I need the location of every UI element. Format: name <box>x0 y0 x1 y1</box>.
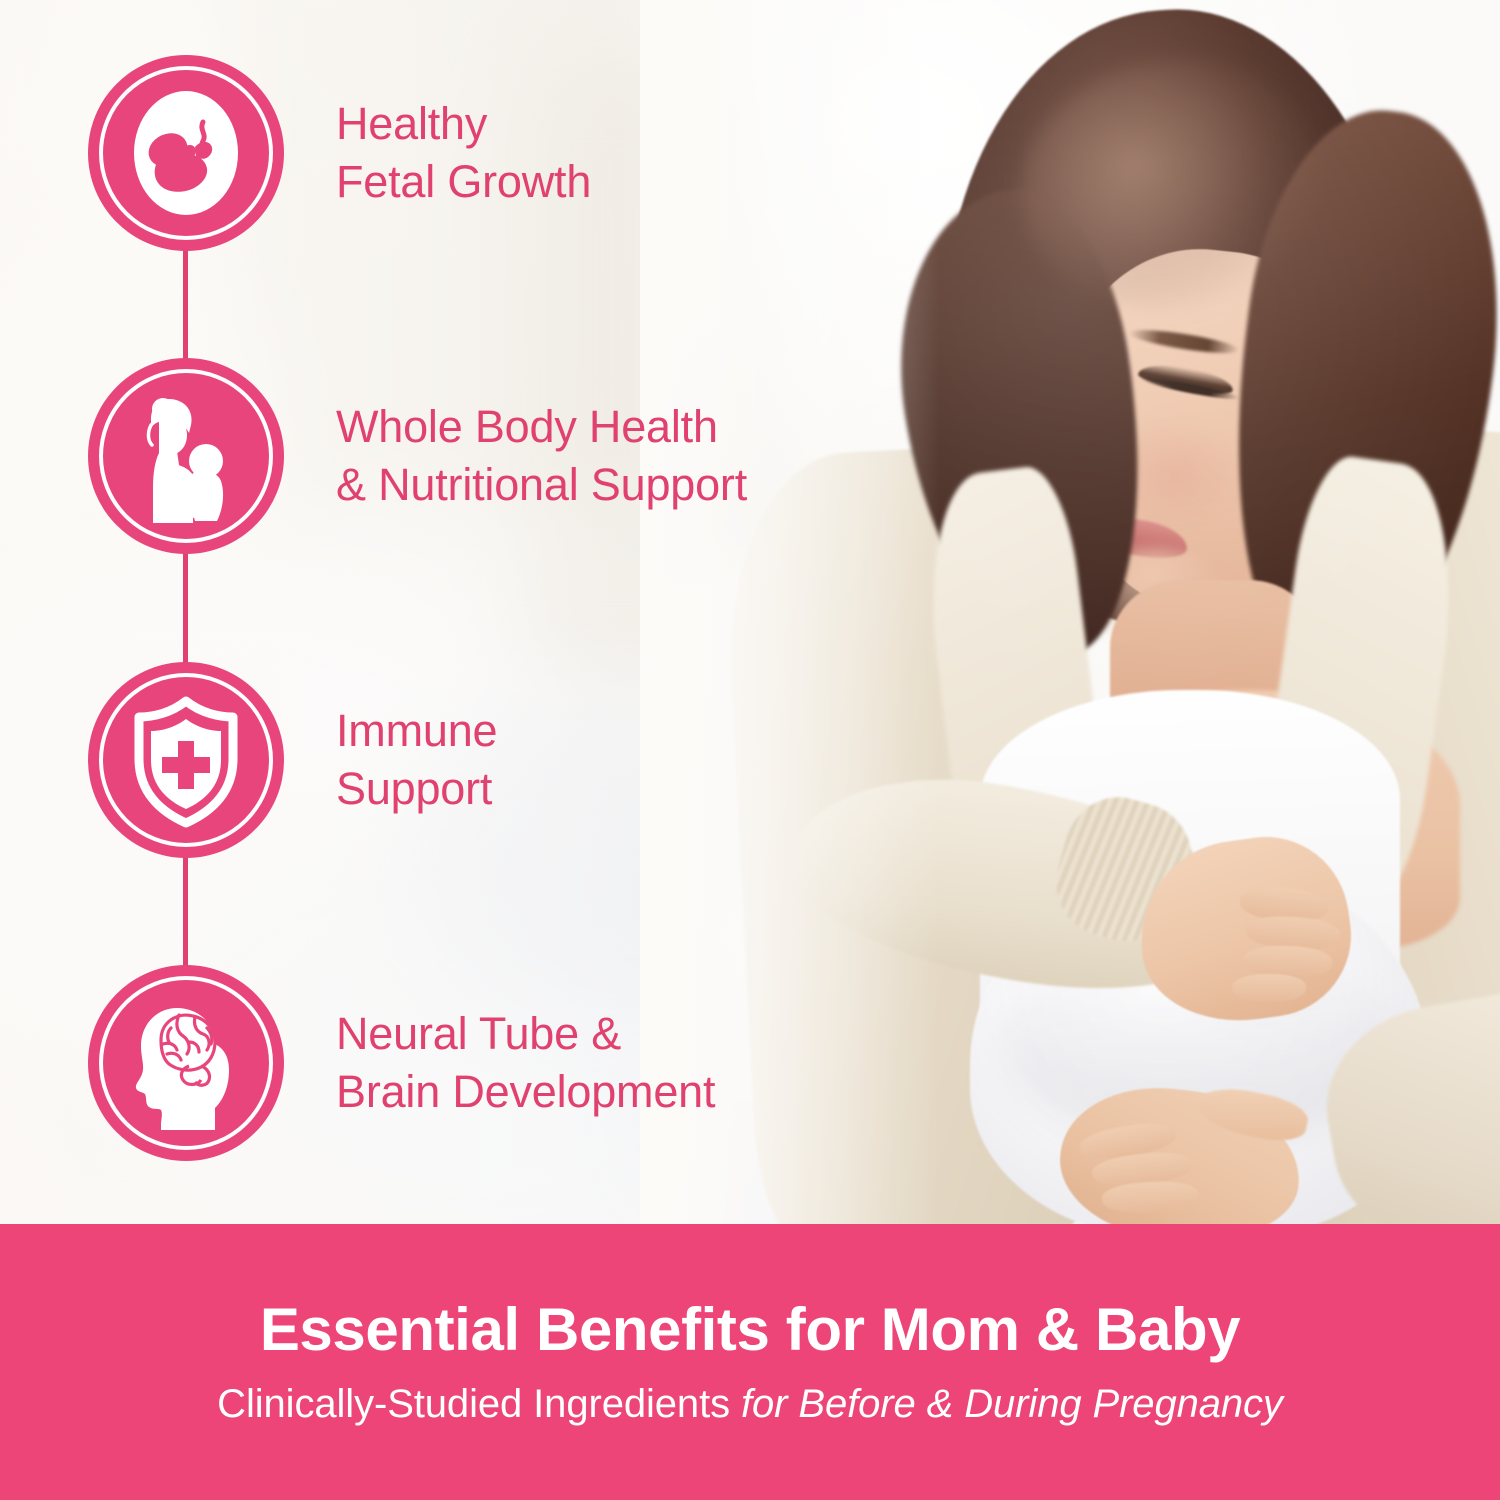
connector-line <box>183 248 188 366</box>
mother-holding-baby-icon <box>88 358 284 554</box>
banner-subtitle-regular: Clinically-Studied Ingredients <box>217 1382 741 1426</box>
benefit-label: Immune Support <box>336 702 497 819</box>
infographic-root: Healthy Fetal Growth <box>0 0 1500 1500</box>
benefit-label: Whole Body Health & Nutritional Support <box>336 398 747 515</box>
bottom-banner: Essential Benefits for Mom & Baby Clinic… <box>0 1224 1500 1500</box>
benefit-item-healthy-fetal-growth: Healthy Fetal Growth <box>88 55 591 251</box>
shield-medical-cross-icon <box>88 662 284 858</box>
benefit-label: Healthy Fetal Growth <box>336 95 591 212</box>
banner-subtitle: Clinically-Studied Ingredients for Befor… <box>217 1384 1283 1424</box>
banner-subtitle-italic: for Before & During Pregnancy <box>741 1382 1283 1426</box>
head-brain-icon <box>88 965 284 1161</box>
fetus-in-womb-icon <box>88 55 284 251</box>
banner-title: Essential Benefits for Mom & Baby <box>260 1300 1240 1360</box>
benefit-label: Neural Tube & Brain Development <box>336 1005 715 1122</box>
benefit-item-neural-tube-brain-development: Neural Tube & Brain Development <box>88 965 715 1161</box>
connector-line <box>183 855 188 973</box>
benefit-item-immune-support: Immune Support <box>88 662 497 858</box>
connector-line <box>183 552 188 672</box>
benefit-item-whole-body-health: Whole Body Health & Nutritional Support <box>88 358 747 554</box>
benefits-list: Healthy Fetal Growth <box>0 0 860 1224</box>
